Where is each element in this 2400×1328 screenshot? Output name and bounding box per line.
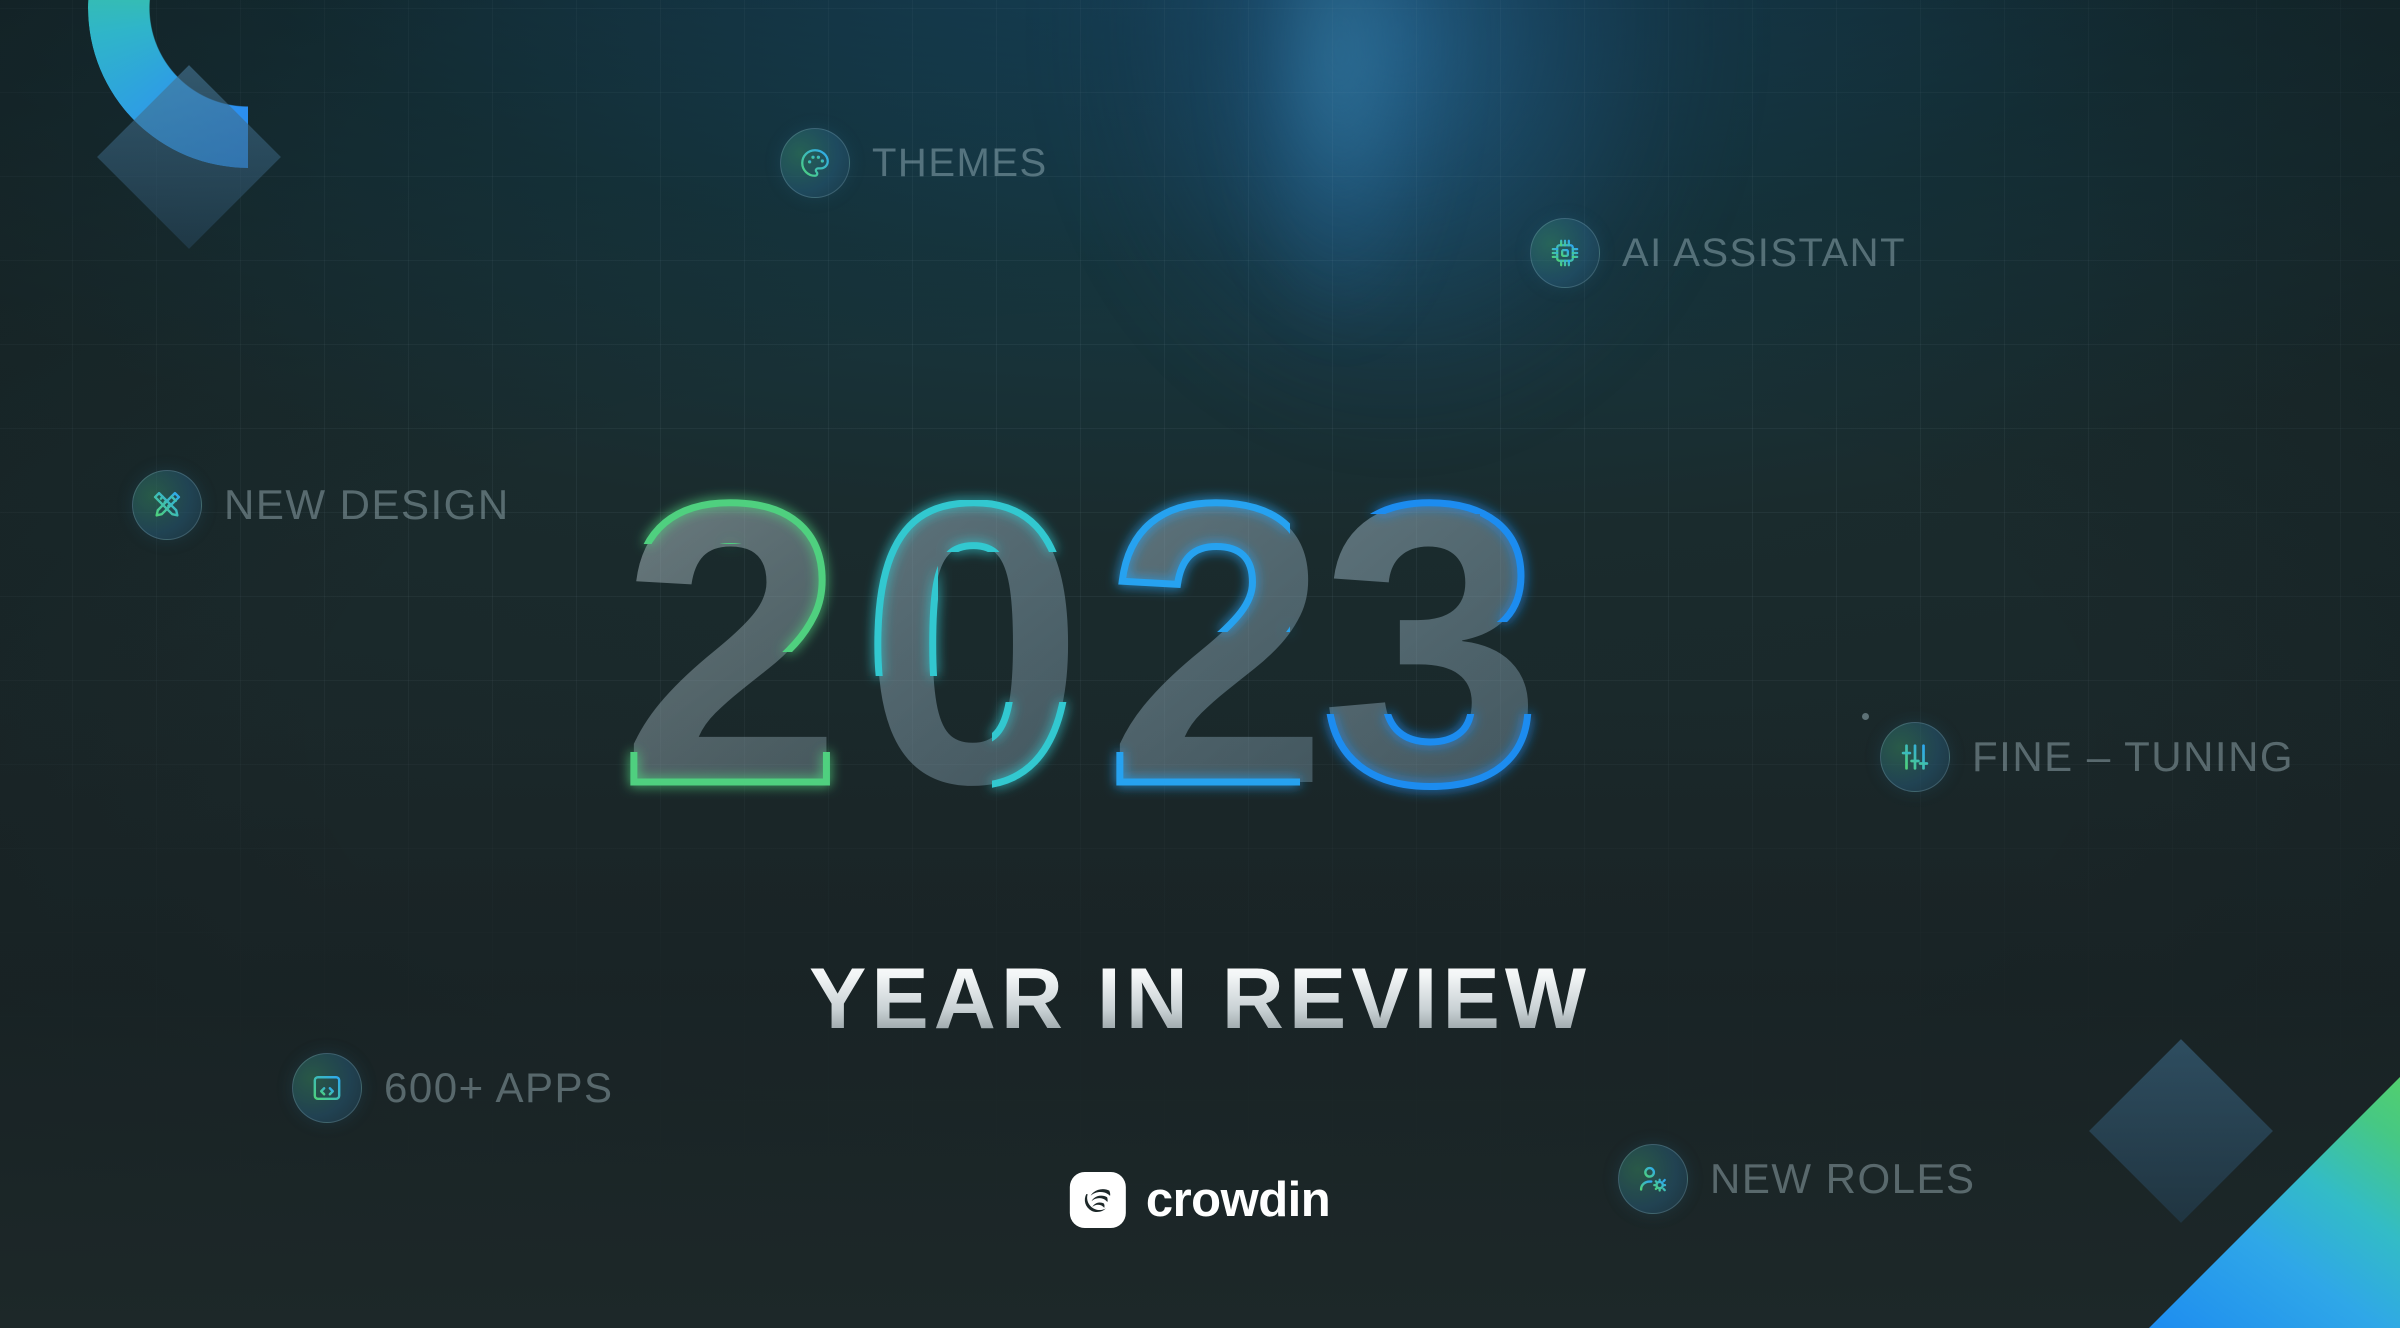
palette-icon (780, 128, 850, 198)
center-stack: 2 0 2 3 2 0 2 3 (0, 0, 2400, 1328)
digit-2-second-outline: 2 (1106, 420, 1322, 867)
decorative-dot (1862, 713, 1869, 720)
feature-chip-new-roles[interactable]: NEW ROLES (1618, 1144, 1976, 1214)
feature-chip-new-design[interactable]: NEW DESIGN (132, 470, 510, 540)
digit-2-first-outline: 2 (620, 420, 836, 867)
feature-chip-ai-assistant[interactable]: AI ASSISTANT (1530, 218, 1906, 288)
ruler-pencil-icon (132, 470, 202, 540)
feature-label-new-roles: NEW ROLES (1710, 1155, 1976, 1203)
cpu-chip-icon (1530, 218, 1600, 288)
digit-0-outline: 0 (862, 420, 1078, 867)
subtitle-year-in-review: YEAR IN REVIEW (809, 950, 1591, 1049)
feature-chip-fine-tuning[interactable]: FINE – TUNING (1880, 722, 2294, 792)
year-headline: 2 0 2 3 2 0 2 3 (620, 452, 1780, 852)
feature-chip-apps[interactable]: 600+ APPS (292, 1053, 614, 1123)
code-window-icon (292, 1053, 362, 1123)
user-settings-icon (1618, 1144, 1688, 1214)
crowdin-swoosh-icon (1070, 1172, 1126, 1228)
feature-label-fine-tuning: FINE – TUNING (1972, 733, 2294, 781)
crowdin-wordmark: crowdin (1146, 1176, 1330, 1225)
crowdin-logo[interactable]: crowdin (1070, 1172, 1330, 1228)
feature-label-apps: 600+ APPS (384, 1064, 614, 1112)
digit-3-outline: 3 (1320, 420, 1536, 867)
feature-label-ai-assistant: AI ASSISTANT (1622, 231, 1906, 276)
feature-label-new-design: NEW DESIGN (224, 481, 510, 529)
feature-chip-themes[interactable]: THEMES (780, 128, 1048, 198)
year-2023-graphic: 2 0 2 3 2 0 2 3 (620, 452, 1780, 852)
year-in-review-banner: 2 0 2 3 2 0 2 3 YEAR IN REVIEW (0, 0, 2400, 1328)
feature-label-themes: THEMES (872, 141, 1048, 186)
sliders-icon (1880, 722, 1950, 792)
